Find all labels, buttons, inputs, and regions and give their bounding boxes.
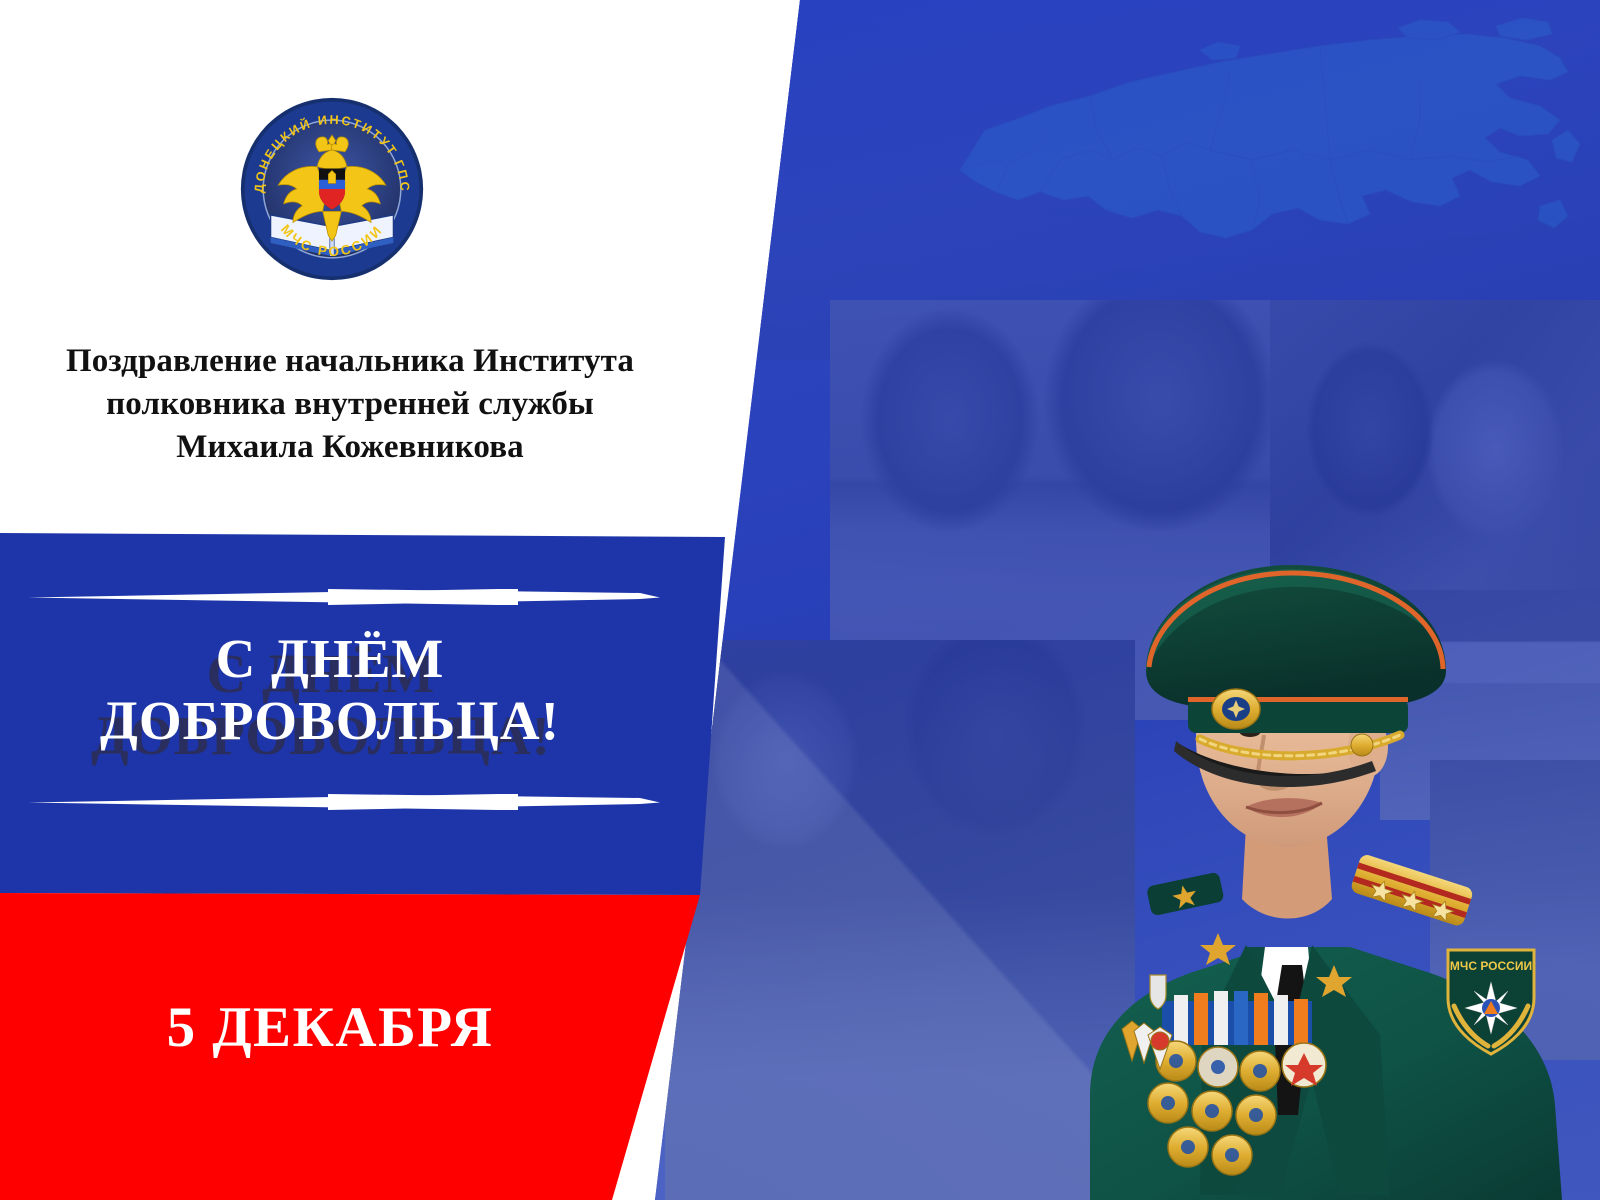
page-title: Поздравление начальника Института полков…	[0, 340, 700, 469]
headline-line-2: полковника внутренней службы	[0, 383, 700, 426]
slogan: С ДНЁМ ДОБРОВОЛЬЦА!	[0, 628, 660, 751]
donetsk-institute-gps-emblem-icon: ДОНЕЦКИЙ ИНСТИТУТ ГПС МЧС РОССИИ	[239, 96, 425, 282]
slogan-line-1: С ДНЁМ	[0, 628, 660, 690]
date-label: 5 ДЕКАБРЯ	[0, 995, 660, 1060]
poster-root: ДОНЕЦКИЙ ИНСТИТУТ ГПС МЧС РОССИИ Поздрав…	[0, 0, 1600, 1200]
tapered-rule-top	[0, 583, 660, 609]
officer-portrait: МЧС РОССИИ	[1050, 495, 1600, 1200]
slogan-line-2: ДОБРОВОЛЬЦА!	[0, 690, 660, 752]
sleeve-patch-text: МЧС РОССИИ	[1450, 959, 1532, 973]
headline-line-1: Поздравление начальника Института	[0, 340, 700, 383]
tapered-rule-bottom	[0, 788, 660, 814]
headline-line-3: Михаила Кожевникова	[0, 426, 700, 469]
